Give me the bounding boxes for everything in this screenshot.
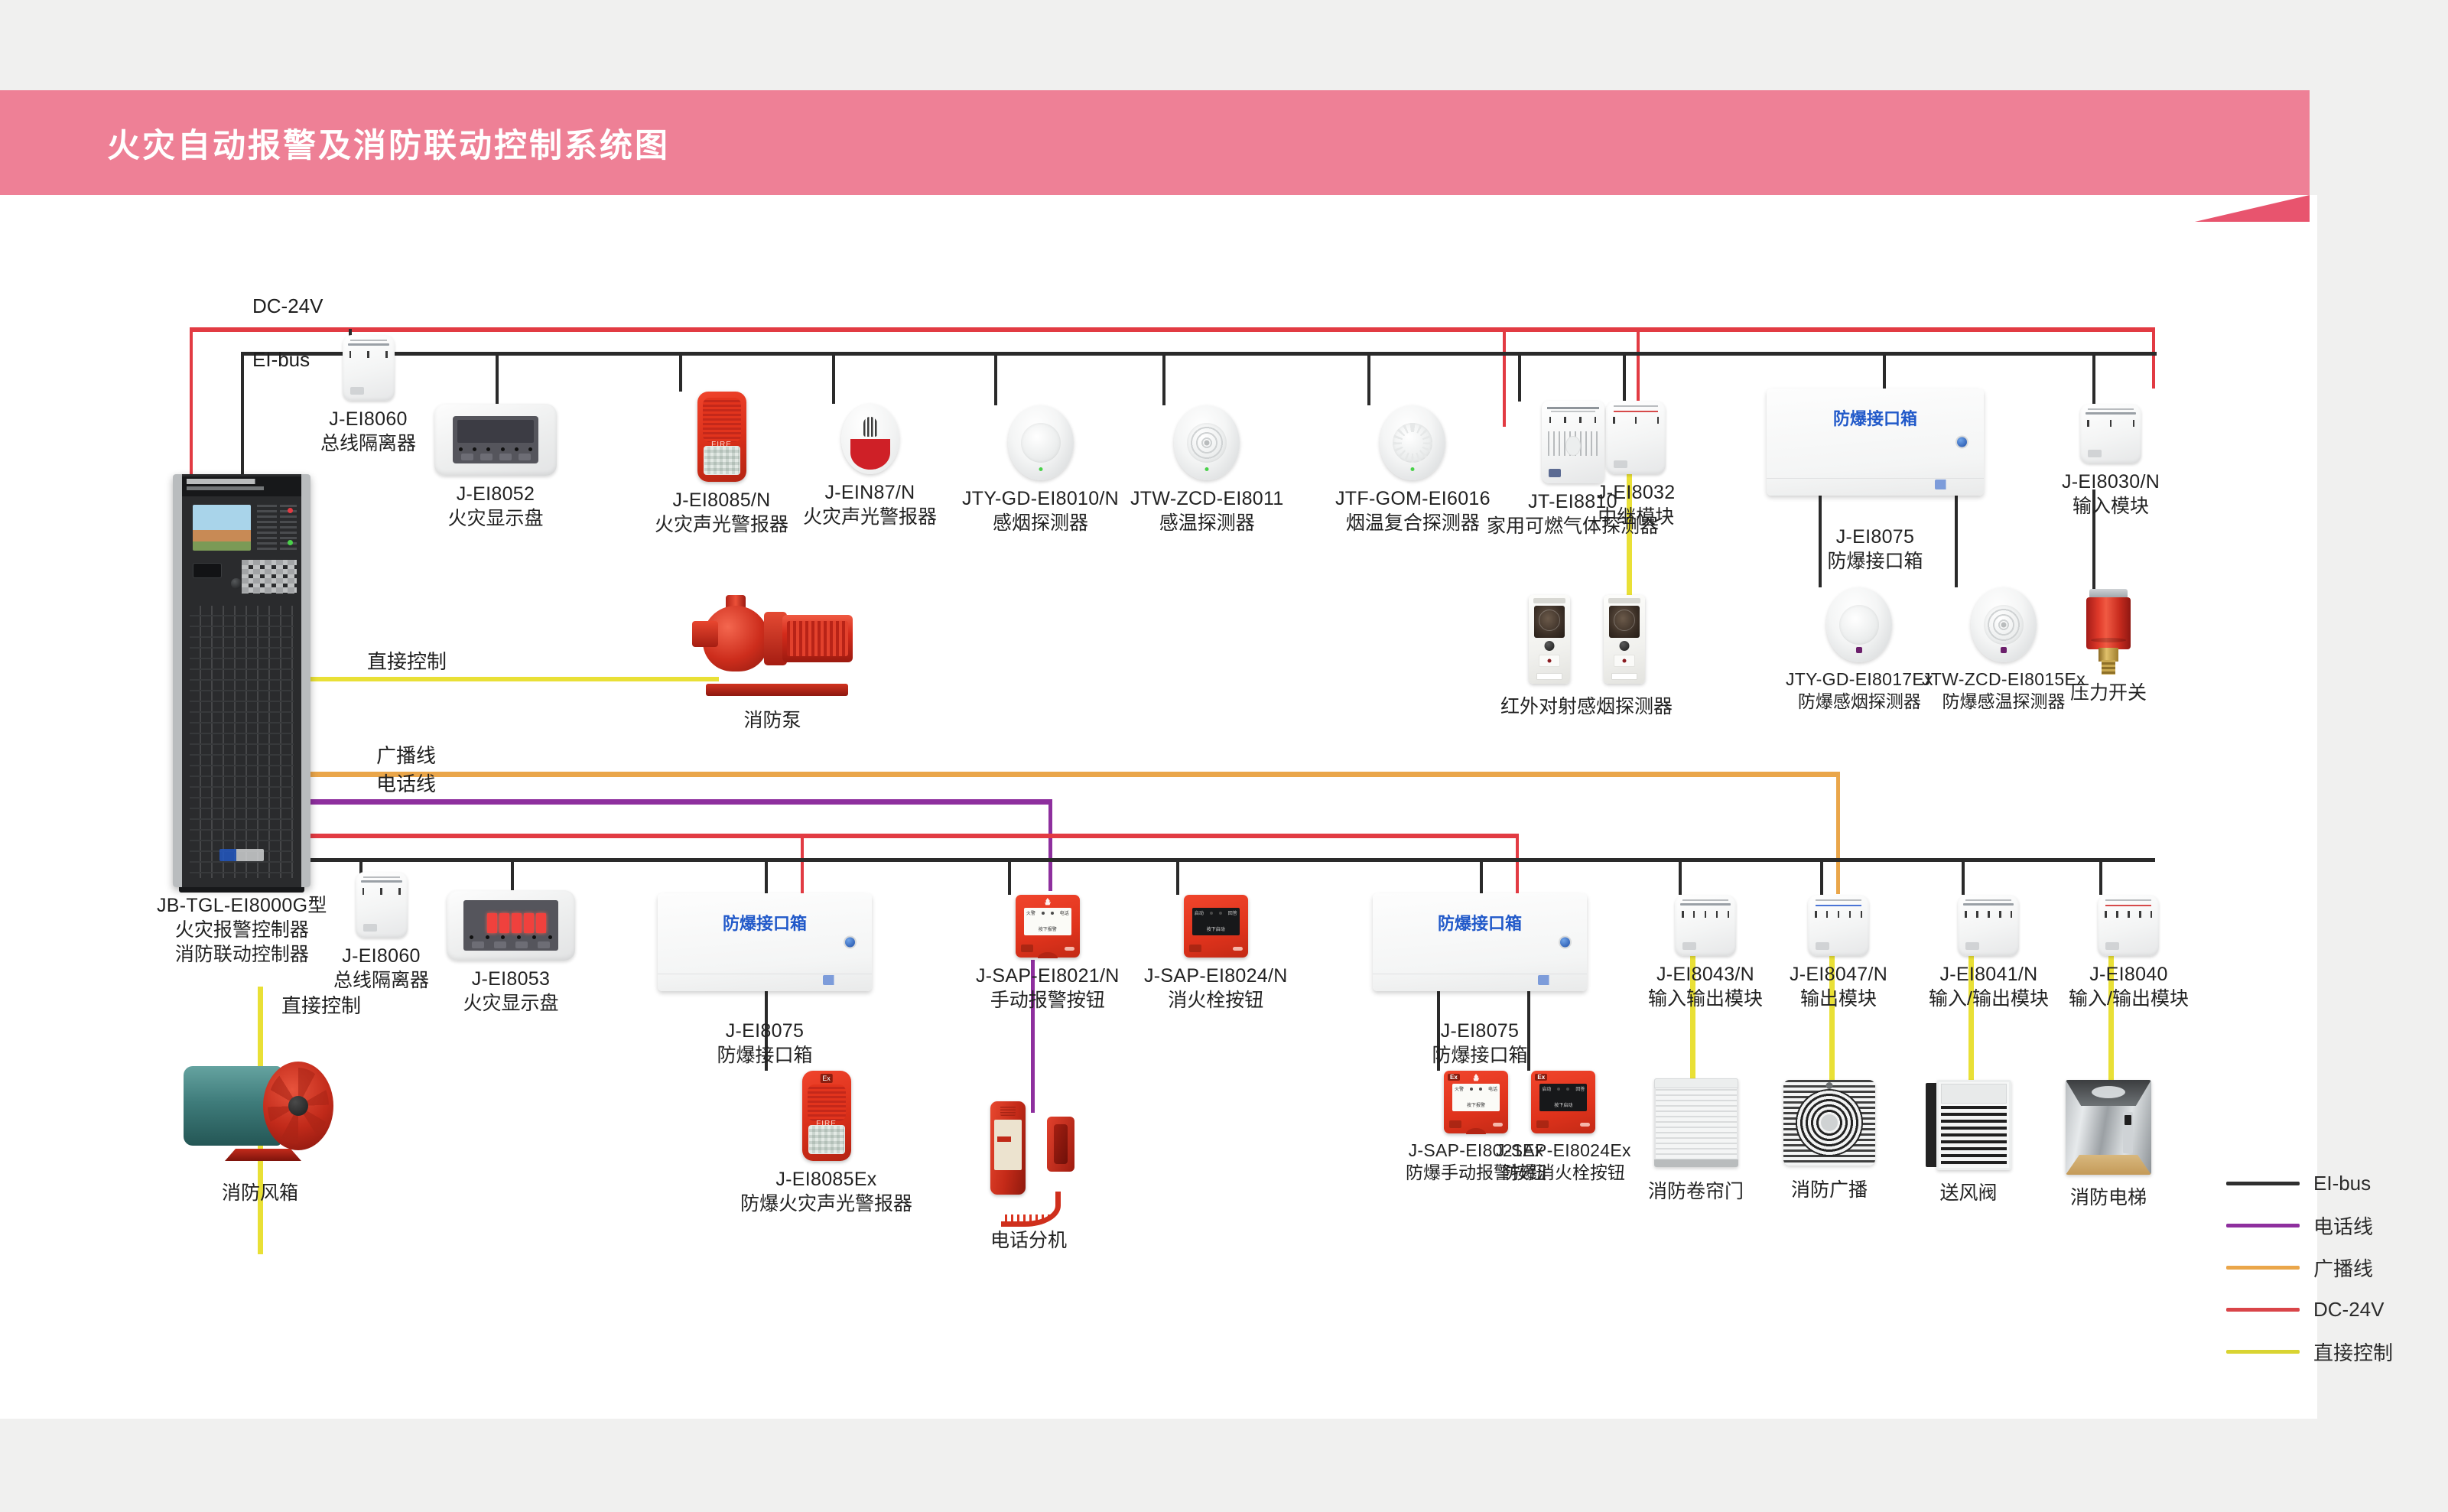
legend-swatch-direct-control	[2226, 1350, 2300, 1354]
wire-drop-j-ei8053	[511, 858, 514, 890]
device-caption: J-EI8052 火灾显示盘	[447, 482, 543, 531]
exbox-lock-knob[interactable]	[1559, 936, 1572, 949]
cabinet-rotary-knob[interactable]	[231, 578, 242, 589]
device-j-ei8060-bottom[interactable]: J-EI8060 总线隔离器	[333, 872, 429, 993]
hydrant-face: 启动回答 按下启动	[1192, 908, 1240, 935]
gas-brand-logo-icon	[1549, 469, 1561, 477]
relay-module-icon[interactable]	[1606, 401, 1666, 474]
device-caption: 消防广播	[1791, 1178, 1868, 1202]
wire-drop-j-sap-ei8024n	[1176, 858, 1179, 895]
device-caption: JTW-ZCD-EI8011 感温探测器	[1130, 486, 1284, 535]
exbox-face-label: 防爆接口箱	[1373, 910, 1587, 935]
exbox-lock-knob[interactable]	[844, 936, 857, 949]
device-caption: 消防风箱	[222, 1181, 298, 1205]
exbox-seam	[1767, 478, 1984, 479]
device-name: 烟温复合探测器	[1335, 511, 1491, 535]
shutter-head-box	[1654, 1078, 1738, 1088]
device-name: 送风阀	[1939, 1181, 1997, 1205]
beam-detector-pair	[1529, 595, 1645, 684]
device-code: JTF-GOM-EI6016	[1335, 486, 1491, 511]
device-caption: J-SAP-EI8024Ex 防爆消火栓按钮	[1496, 1140, 1631, 1185]
page-title: 火灾自动报警及消防联动控制系统图	[107, 119, 670, 167]
device-name: 输入模块	[2062, 494, 2160, 519]
detector-ring-grille	[1984, 605, 2024, 645]
device-j-sap-ei8024n[interactable]: 启动回答 按下启动 J-SAP-EI8024/N 消火栓按钮	[1144, 895, 1288, 1013]
reset-key-slot[interactable]	[1580, 1123, 1590, 1127]
strobe-lens	[808, 1125, 845, 1154]
call-point-press-text: 按下报警	[1452, 1101, 1500, 1108]
wire-dc24v-bottom-horizontal	[295, 834, 1519, 838]
device-caption: J-EI8043/N 输入输出模块	[1648, 962, 1763, 1011]
device-caption: J-EI8075 防爆接口箱	[1827, 525, 1923, 574]
brand-logo-icon	[1449, 1120, 1461, 1128]
beam-adjust-knob[interactable]	[1544, 641, 1554, 651]
reset-key-slot[interactable]	[1065, 947, 1074, 951]
bus-isolator-icon[interactable]	[343, 335, 395, 401]
gas-title-bar	[1547, 407, 1599, 409]
wire-drop-exbox-top	[1883, 352, 1886, 389]
handset-label-plate	[994, 1120, 1022, 1170]
elevator-floor	[2066, 1155, 2151, 1175]
explosion-proof-box-icon[interactable]: 防爆接口箱	[1767, 389, 1984, 496]
device-pressure-switch[interactable]: 压力开关	[2070, 589, 2147, 705]
device-j-ei8030n[interactable]: J-EI8030/N 输入模块	[2062, 404, 2160, 519]
main-controller-caption: JB-TGL-EI8000G型 火灾报警控制器 消防联动控制器	[157, 893, 327, 967]
module-brand-logo-icon	[1816, 942, 1829, 950]
device-name: 压力开关	[2070, 681, 2147, 705]
device-jtf-gom-ei6016[interactable]: JTF-GOM-EI6016 烟温复合探测器	[1335, 405, 1491, 535]
heat-detector-icon[interactable]	[1174, 405, 1240, 480]
device-j-ei8075-bottom-right[interactable]: 防爆接口箱 J-EI8075 防爆接口箱	[1373, 893, 1587, 1068]
device-name: 防爆消火栓按钮	[1496, 1162, 1631, 1184]
device-caption: 送风阀	[1939, 1181, 1997, 1205]
device-code: J-EI8040	[2069, 962, 2189, 987]
panel-buttons[interactable]	[457, 454, 534, 461]
device-caption: 压力开关	[2070, 681, 2147, 705]
ex-badge-icon: Ex	[1448, 1074, 1460, 1081]
wire-drop-exbox-lower-right	[1480, 858, 1483, 895]
device-fire-elevator[interactable]: 消防电梯	[2066, 1080, 2151, 1210]
device-code: J-EI8060	[320, 407, 416, 431]
shutter-bottom-rail	[1654, 1159, 1738, 1167]
ex-heat-detector-icon[interactable]	[1971, 587, 2037, 662]
explosion-proof-box-icon[interactable]: 防爆接口箱	[1373, 893, 1587, 991]
beam-adjust-knob[interactable]	[1619, 641, 1629, 651]
device-name: 火灾声光警报器	[803, 505, 937, 529]
pump-base-plate	[706, 684, 848, 696]
wire-drop-jt-ei8810	[1518, 352, 1521, 402]
device-telephone-extension[interactable]: 电话分机	[983, 1101, 1074, 1253]
strobe-sounder-icon[interactable]: FIRE	[697, 392, 746, 482]
pa-speaker-icon[interactable]	[1783, 1080, 1875, 1166]
panel-digit-display	[487, 913, 546, 933]
device-caption: 消防电梯	[2070, 1185, 2147, 1210]
device-j-ein87n[interactable]: J-EIN87/N 火灾声光警报器	[803, 404, 937, 529]
panel-lcd	[457, 420, 534, 443]
device-code: J-EI8052	[447, 482, 543, 506]
round-sounder-icon[interactable]	[841, 404, 899, 474]
legend-row-dc24v: DC-24V	[2226, 1289, 2417, 1331]
module-indicator-pins	[1682, 911, 1729, 918]
wire-drop-j-ei8052	[496, 352, 499, 404]
device-code: J-EIN87/N	[803, 480, 937, 505]
wire-drop-jtf-gom-ei6016	[1367, 352, 1370, 405]
cabinet-brand-logo-icon	[219, 849, 264, 861]
legend-row-broadcast: 广播线	[2226, 1247, 2417, 1289]
cabinet-display-screen[interactable]	[193, 505, 251, 551]
wire-drop-j-ei8040	[2099, 858, 2102, 895]
wire-broadcast-drop-to-output-module	[1836, 772, 1840, 894]
input-output-module-icon[interactable]	[1675, 895, 1736, 956]
module-subtitle-bar	[2086, 412, 2136, 415]
handset-speaker-grille	[1000, 1106, 1016, 1116]
call-point-face: 火警电话 按下报警	[1452, 1084, 1500, 1111]
fan-mount-foot	[225, 1149, 301, 1161]
device-jty-gd-ei8010n[interactable]: JTY-GD-EI8010/N 感烟探测器	[962, 405, 1119, 535]
device-caption: JTY-GD-EI8010/N 感烟探测器	[962, 486, 1119, 535]
exbox-lock-knob[interactable]	[1955, 436, 1968, 449]
label-direct-control-fan: 直接控制	[281, 990, 361, 1019]
device-code: J-EI8053	[463, 967, 558, 991]
ex-badge-icon: Ex	[1535, 1074, 1547, 1081]
detector-vent-slots	[1391, 421, 1434, 464]
bus-isolator-icon[interactable]	[356, 872, 408, 938]
wire-drop-j-ei8085n	[679, 352, 682, 392]
device-jtw-zcd-ei8015ex[interactable]: JTW-ZCD-EI8015Ex 防爆感温探测器	[1922, 587, 2086, 714]
device-j-ei8041n[interactable]: J-EI8041/N 输入/输出模块	[1929, 895, 2049, 1011]
device-name: 总线隔离器	[333, 968, 429, 993]
wire-drop-j-ei8047n	[1820, 858, 1823, 895]
label-broadcast: 广播线	[376, 740, 436, 769]
device-name: 手动报警按钮	[976, 988, 1120, 1013]
wire-dc24v-drop-left	[190, 327, 193, 480]
legend-swatch-dc24v	[2226, 1308, 2300, 1312]
wire-dc24v-top-horizontal	[190, 327, 2155, 332]
valve-louvers	[1941, 1106, 2007, 1166]
wire-drop-j-ei8043n	[1679, 858, 1682, 895]
device-fire-fan[interactable]: 消防风箱	[184, 1055, 336, 1205]
device-caption: J-EI8047/N 输出模块	[1790, 962, 1887, 1011]
device-j-ei8075-bottom-left[interactable]: 防爆接口箱 J-EI8075 防爆接口箱	[658, 893, 872, 1068]
wire-drop-jtw-zcd-ei8011	[1162, 352, 1165, 405]
module-title-bar	[1614, 405, 1658, 407]
explosion-proof-box-icon[interactable]: 防爆接口箱	[658, 893, 872, 991]
device-code: J-EI8085Ex	[740, 1167, 912, 1192]
device-j-sap-ei8021n[interactable]: 火警电话 按下报警 J-SAP-EI8021/N 手动报警按钮	[976, 895, 1120, 1013]
device-name: 防爆接口箱	[1432, 1043, 1527, 1068]
device-j-ei8060-top[interactable]: J-EI8060 总线隔离器	[320, 335, 416, 456]
label-eibus-top: EI-bus	[252, 348, 310, 372]
sounder-red-face	[850, 439, 890, 470]
device-caption: J-EI8040 输入/输出模块	[2069, 962, 2189, 1011]
device-code: J-EI8075	[717, 1019, 812, 1043]
device-code: J-EI8047/N	[1790, 962, 1887, 987]
device-caption: J-SAP-EI8024/N 消火栓按钮	[1144, 964, 1288, 1013]
panel-screen	[453, 416, 538, 463]
device-fire-pa-speaker[interactable]: 消防广播	[1783, 1080, 1875, 1202]
device-name: 消防广播	[1791, 1178, 1868, 1202]
cabinet-keypad[interactable]	[242, 560, 297, 593]
legend-label-direct-control: 直接控制	[2313, 1338, 2393, 1366]
brand-logo-icon	[1021, 945, 1033, 952]
handset-coiled-cord	[1001, 1192, 1061, 1227]
cabinet-module-rack	[190, 606, 294, 878]
device-name: 防爆接口箱	[1827, 549, 1923, 574]
device-code: J-EI8075	[1827, 525, 1923, 549]
device-j-ei8043n[interactable]: J-EI8043/N 输入输出模块	[1648, 895, 1763, 1011]
hydrant-press-text: 按下启动	[1539, 1101, 1587, 1108]
call-point-press-text: 按下报警	[1024, 925, 1071, 932]
gas-indicator-pins	[1549, 417, 1597, 423]
detector-core	[1839, 605, 1879, 645]
module-indicator-pins	[1815, 911, 1862, 918]
fire-pump-icon[interactable]	[692, 604, 853, 696]
fire-elevator-icon[interactable]	[2066, 1080, 2151, 1175]
device-code: J-EI8060	[333, 944, 429, 968]
device-fire-pump[interactable]: 消防泵	[692, 604, 853, 733]
elevator-ceiling	[2066, 1080, 2151, 1106]
beam-indicator-window	[1539, 655, 1560, 667]
detector-status-led	[1411, 467, 1415, 471]
device-j-ei8040[interactable]: J-EI8040 输入/输出模块	[2069, 895, 2189, 1011]
device-code: J-EI8075	[1432, 1019, 1527, 1043]
device-air-supply-valve[interactable]: 送风阀	[1926, 1080, 2011, 1205]
brand-logo-icon	[1536, 1120, 1549, 1128]
wire-telephone-horizontal	[295, 799, 1052, 805]
controller-line2: 火灾报警控制器	[157, 918, 327, 942]
module-title-bar	[1816, 899, 1861, 901]
wire-broadcast-horizontal	[295, 772, 1840, 777]
ex-strobe-sounder-icon[interactable]: Ex FIRE	[802, 1071, 851, 1161]
device-name: 感温探测器	[1130, 511, 1284, 535]
device-code: J-SAP-EI8021/N	[976, 964, 1120, 988]
device-j-ei8085ex[interactable]: Ex FIRE J-EI8085Ex 防爆火灾声光警报器	[740, 1071, 912, 1216]
device-code: JTW-ZCD-EI8015Ex	[1922, 668, 2086, 691]
air-supply-valve-icon[interactable]	[1926, 1080, 2011, 1170]
speaker-mount-screw	[1826, 1082, 1833, 1089]
sounder-grille	[808, 1084, 846, 1121]
input-output-module-icon[interactable]	[1958, 895, 2019, 956]
cabinet-title-line2	[187, 486, 297, 490]
panel-face	[463, 900, 558, 951]
pressure-switch-body	[2086, 597, 2131, 649]
beam-indicator-window	[1614, 655, 1635, 667]
device-name: 火灾声光警报器	[655, 512, 788, 537]
detector-ring-grille	[1187, 423, 1227, 463]
pump-motor	[782, 615, 853, 662]
hydrant-press-text: 按下启动	[1192, 925, 1240, 932]
device-name: 输入输出模块	[1648, 987, 1763, 1011]
legend-swatch-telephone	[2226, 1224, 2300, 1227]
device-j-sap-ei8024ex[interactable]: Ex 启动回答 按下启动 J-SAP-EI8024Ex 防爆消火栓按钮	[1496, 1071, 1631, 1185]
label-dc24v-top: DC-24V	[252, 294, 323, 318]
legend: EI-bus 电话线 广播线 DC-24V 直接控制	[2226, 1162, 2417, 1373]
legend-row-direct-control: 直接控制	[2226, 1331, 2417, 1373]
module-title-bar	[350, 340, 387, 341]
device-name: 消防卷帘门	[1648, 1179, 1744, 1204]
exbox-brand-logo-icon	[823, 975, 860, 985]
panel-status-leds	[459, 447, 532, 451]
device-caption: J-EI8041/N 输入/输出模块	[1929, 962, 2049, 1011]
digital-display-panel-icon[interactable]	[447, 890, 575, 961]
module-subtitle-bar	[348, 343, 389, 346]
device-jty-gd-ei8017ex[interactable]: JTY-GD-EI8017Ex 防爆感烟探测器	[1786, 587, 1933, 714]
device-name: 输入/输出模块	[1929, 987, 2049, 1011]
module-title-bar	[2088, 408, 2134, 410]
device-code: JTY-GD-EI8010/N	[962, 486, 1119, 511]
pressure-switch-icon[interactable]	[2086, 589, 2131, 675]
legend-label-telephone: 电话线	[2313, 1211, 2373, 1240]
device-name: 火灾显示盘	[447, 506, 543, 531]
device-j-ei8053[interactable]: J-EI8053 火灾显示盘	[447, 890, 575, 1016]
module-brand-logo-icon	[2088, 450, 2102, 457]
device-ir-beam-smoke-detector[interactable]: 红外对射感烟探测器	[1500, 595, 1673, 719]
module-title-bar	[363, 876, 400, 878]
wire-drop-exbox-lower-left	[765, 858, 768, 895]
smoke-detector-icon[interactable]	[1008, 405, 1074, 480]
module-title-bar	[1965, 899, 2011, 901]
phone-jack-notch[interactable]	[1038, 952, 1058, 958]
beam-smoke-detector-icon[interactable]	[1604, 595, 1645, 684]
valve-header-panel	[1941, 1084, 2007, 1104]
device-name: 感烟探测器	[962, 511, 1119, 535]
device-code: J-SAP-EI8024Ex	[1496, 1140, 1631, 1162]
device-caption: J-SAP-EI8021/N 手动报警按钮	[976, 964, 1120, 1013]
legend-swatch-broadcast	[2226, 1266, 2300, 1270]
roller-shutter-icon[interactable]	[1654, 1078, 1738, 1167]
module-brand-logo-icon	[363, 924, 377, 932]
ex-badge-icon: Ex	[820, 1074, 833, 1083]
exbox-brand-logo-icon	[1538, 975, 1575, 985]
wire-drop-j-ei8032	[1623, 352, 1626, 402]
manual-call-point-icon[interactable]: 火警电话 按下报警	[1016, 895, 1080, 958]
device-caption: J-EIN87/N 火灾声光警报器	[803, 480, 937, 529]
module-indicator-pins	[362, 888, 401, 895]
device-name: 消防风箱	[222, 1181, 298, 1205]
output-module-icon[interactable]	[1808, 895, 1869, 956]
legend-swatch-eibus	[2226, 1182, 2300, 1185]
hydrant-indicator-row: 启动回答	[1195, 910, 1237, 915]
call-point-face: 火警电话 按下报警	[1024, 908, 1071, 935]
wire-eibus-bottom-horizontal	[297, 858, 2155, 862]
ex-smoke-detector-icon[interactable]	[1826, 587, 1892, 662]
pump-suction-flange	[692, 621, 718, 647]
device-j-ei8075-top[interactable]: 防爆接口箱 J-EI8075 防爆接口箱	[1767, 389, 1984, 574]
device-code: JTY-GD-EI8017Ex	[1786, 668, 1933, 691]
legend-row-telephone: 电话线	[2226, 1205, 2417, 1247]
device-code: J-EI8041/N	[1929, 962, 2049, 987]
fire-display-panel-icon[interactable]	[434, 404, 557, 476]
device-caption: 红外对射感烟探测器	[1500, 694, 1673, 719]
device-caption: J-EI8075 防爆接口箱	[1432, 1019, 1527, 1068]
beam-top-cap	[1608, 598, 1640, 603]
axial-fan-icon[interactable]	[184, 1055, 336, 1161]
input-module-icon[interactable]	[2080, 404, 2141, 463]
device-caption: JTF-GOM-EI6016 烟温复合探测器	[1335, 486, 1491, 535]
title-banner: 火灾自动报警及消防联动控制系统图	[0, 90, 2310, 195]
detector-status-led	[2001, 647, 2007, 653]
handset-body[interactable]	[990, 1101, 1026, 1195]
ex-hydrant-button-icon[interactable]: Ex 启动回答 按下启动	[1531, 1071, 1595, 1133]
device-jtw-zcd-ei8011[interactable]: JTW-ZCD-EI8011 感温探测器	[1130, 405, 1284, 535]
sounder-grille	[703, 398, 741, 442]
panel-buttons[interactable]	[467, 941, 554, 949]
detector-status-led	[1039, 467, 1042, 471]
module-red-underline	[1614, 411, 1658, 412]
device-name: 消防泵	[743, 708, 801, 733]
device-code: J-SAP-EI8024/N	[1144, 964, 1288, 988]
device-caption: J-EI8075 防爆接口箱	[717, 1019, 812, 1068]
phone-jack-notch[interactable]	[1466, 1128, 1486, 1134]
module-brand-logo-icon	[350, 387, 364, 395]
reset-key-slot[interactable]	[1233, 947, 1243, 951]
gas-detector-icon[interactable]	[1542, 401, 1604, 483]
module-title-bar	[2105, 899, 2151, 901]
device-j-ei8047n[interactable]: J-EI8047/N 输出模块	[1790, 895, 1887, 1011]
device-name: 消火栓按钮	[1144, 988, 1288, 1013]
hydrant-button-icon[interactable]: 启动回答 按下启动	[1184, 895, 1248, 958]
device-code: J-EI8085/N	[655, 488, 788, 512]
label-telephone: 电话线	[376, 769, 436, 797]
hydrant-face: 启动回答 按下启动	[1539, 1084, 1587, 1111]
beam-lens	[1609, 606, 1640, 638]
input-output-module-icon[interactable]	[2098, 895, 2159, 956]
beam-receiver-label	[1611, 673, 1637, 680]
module-indicator-pins	[1965, 911, 2012, 918]
device-caption: JTW-ZCD-EI8015Ex 防爆感温探测器	[1922, 668, 2086, 714]
module-indicator-pins	[2087, 420, 2134, 427]
gas-sensor-window	[1565, 436, 1581, 456]
combo-detector-icon[interactable]	[1380, 405, 1445, 480]
telephone-handset-icon[interactable]	[983, 1101, 1074, 1224]
device-caption: J-EI8060 总线隔离器	[333, 944, 429, 993]
detector-status-led	[1205, 467, 1209, 471]
wire-drop-j-ei8041n	[1962, 858, 1965, 895]
main-controller-node[interactable]: JB-TGL-EI8000G型 火灾报警控制器 消防联动控制器	[157, 474, 327, 967]
cabinet-header-strip	[182, 476, 301, 496]
fan-blades	[268, 1068, 329, 1144]
beam-top-cap	[1533, 598, 1565, 603]
wire-drop-jty-gd-ei8010n	[994, 352, 997, 405]
module-blue-underline	[1816, 905, 1861, 906]
call-point-indicator-row: 火警电话	[1455, 1086, 1497, 1091]
fire-alarm-control-cabinet-icon[interactable]	[173, 474, 310, 887]
device-code: J-EI8030/N	[2062, 470, 2160, 494]
exbox-face-label: 防爆接口箱	[658, 910, 872, 935]
elevator-control-panel[interactable]	[2123, 1112, 2133, 1153]
device-fire-roller-shutter[interactable]: 消防卷帘门	[1648, 1078, 1744, 1204]
beam-lens	[1534, 606, 1565, 638]
exbox-brand-logo-icon	[1935, 480, 1972, 489]
module-subtitle-bar	[1963, 903, 2014, 906]
device-j-ei8085n[interactable]: FIRE J-EI8085/N 火灾声光警报器	[655, 392, 788, 537]
exbox-seam	[1373, 974, 1587, 974]
cabinet-base	[179, 887, 304, 893]
cabinet-microphone[interactable]	[193, 563, 222, 578]
call-point-indicator-row: 火警电话	[1026, 910, 1069, 915]
exbox-face-label: 防爆接口箱	[1767, 405, 1984, 430]
device-j-ei8052[interactable]: J-EI8052 火灾显示盘	[434, 404, 557, 531]
wire-eibus-drop-to-controller	[241, 352, 244, 480]
beam-smoke-detector-icon[interactable]	[1529, 595, 1570, 684]
module-indicator-pins	[349, 351, 388, 358]
cabinet-title-line1	[187, 479, 297, 484]
device-caption: J-EI8085Ex 防爆火灾声光警报器	[740, 1167, 912, 1216]
exbox-seam	[658, 974, 872, 974]
device-j-ei8032[interactable]: J-EI8032 中继模块	[1597, 401, 1675, 529]
wire-eibus-top-horizontal	[241, 352, 2157, 356]
device-caption: JTY-GD-EI8017Ex 防爆感烟探测器	[1786, 668, 1933, 714]
